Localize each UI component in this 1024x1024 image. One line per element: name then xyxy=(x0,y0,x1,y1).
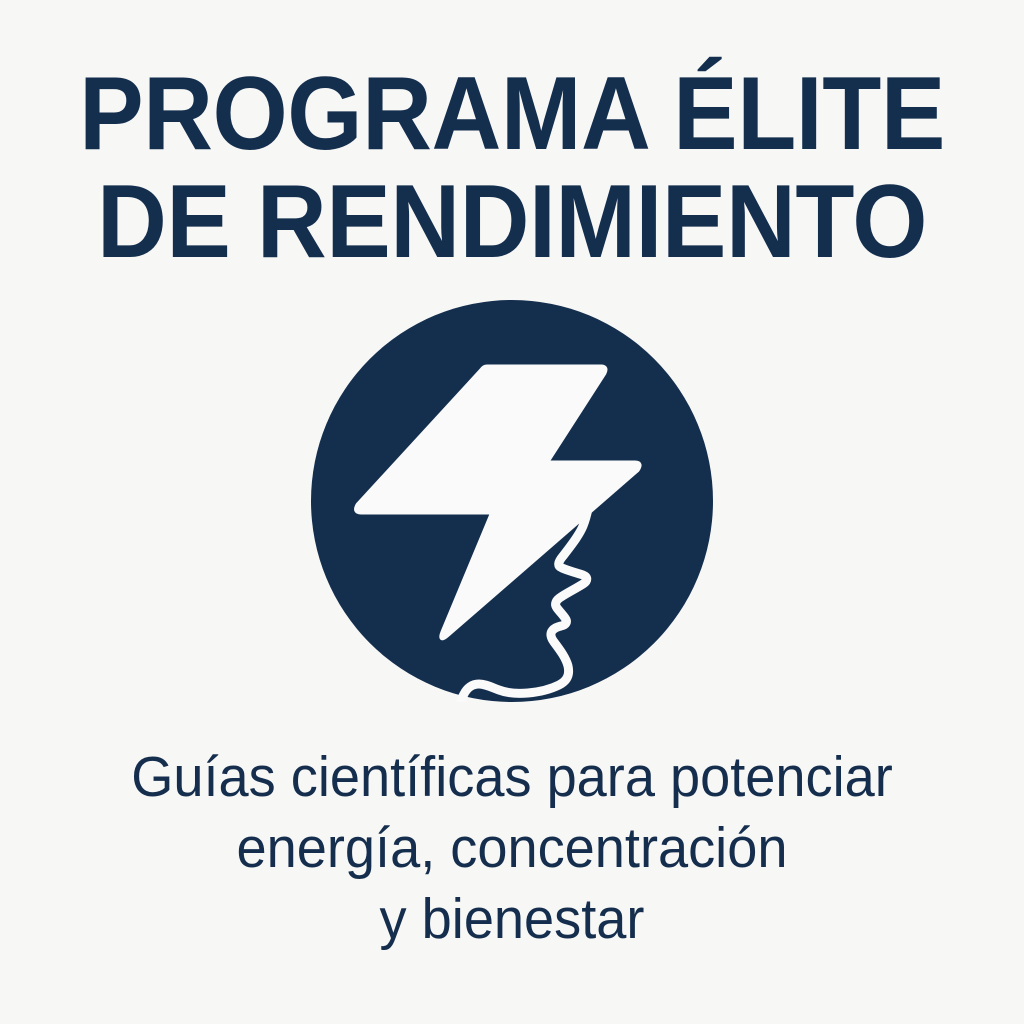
emblem xyxy=(311,300,713,702)
subtitle: Guías científicas para potenciar energía… xyxy=(0,742,1024,955)
page-title: PROGRAMA ÉLITE DE RENDIMIENTO xyxy=(0,62,1024,274)
subtitle-line-3: y bienestar xyxy=(26,884,999,955)
emblem-svg xyxy=(311,300,713,702)
title-line-2: DE RENDIMIENTO xyxy=(36,170,988,274)
title-line-1: PROGRAMA ÉLITE xyxy=(36,62,988,166)
subtitle-line-2: energía, concentración xyxy=(26,813,999,884)
subtitle-line-1: Guías científicas para potenciar xyxy=(26,742,999,813)
poster-canvas: PROGRAMA ÉLITE DE RENDIMIENTO Guías cien… xyxy=(0,0,1024,1024)
